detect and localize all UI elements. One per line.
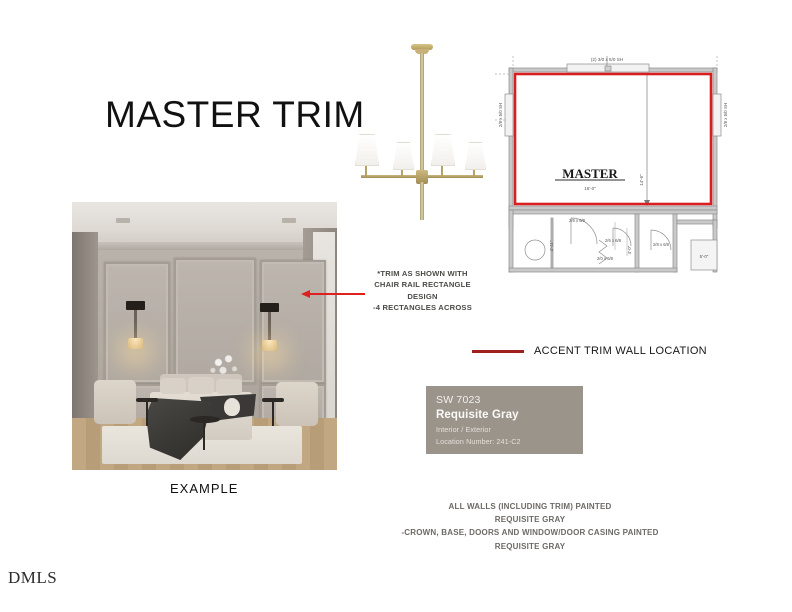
chandelier-arm (361, 175, 421, 178)
paint-name: Requisite Gray (436, 407, 583, 424)
photo-wall-sconce (268, 312, 271, 342)
paint-color-chip: SW 7023 Requisite Gray Interior / Exteri… (426, 386, 583, 454)
trim-note-line-3: DESIGN (355, 291, 490, 302)
photo-downlight (282, 218, 296, 223)
caption-line-4: REQUISITE GRAY (330, 540, 730, 553)
paint-location-number: Location Number: 241-C2 (436, 436, 583, 448)
caption-line-1: ALL WALLS (INCLUDING TRIM) PAINTED (330, 500, 730, 513)
photo-armchair (276, 382, 318, 426)
caption-line-2: REQUISITE GRAY (330, 513, 730, 526)
photo-wall-sconce (134, 310, 137, 340)
floor-plan-closet-dim: 4'-0" (627, 245, 632, 254)
chandelier-product-image (345, 42, 485, 222)
trim-note-line-4: -4 RECTANGLES ACROSS (355, 302, 490, 313)
photo-round-table (190, 416, 220, 423)
photo-armchair (94, 380, 136, 424)
photo-vase (224, 398, 240, 416)
trim-note-line-2: CHAIR RAIL RECTANGLE (355, 279, 490, 290)
design-board-slide: MASTER TRIM EXAMPLE (0, 0, 792, 612)
master-bedroom-example-photo (72, 202, 337, 470)
chandelier-shade (431, 134, 455, 166)
photo-pillow (188, 377, 214, 394)
floor-plan-door-callout: 2/6 x 6/8 (569, 218, 586, 223)
floor-plan-left-window-callout: 2/8 x 5/0 SH (498, 103, 503, 127)
paint-spec-caption: ALL WALLS (INCLUDING TRIM) PAINTED REQUI… (330, 500, 730, 553)
legend-line-swatch (472, 350, 524, 353)
photo-downlight (116, 218, 130, 223)
legend-label: ACCENT TRIM WALL LOCATION (534, 345, 707, 357)
chandelier-stem (420, 53, 424, 177)
photo-caption: EXAMPLE (170, 481, 238, 496)
paint-use: Interior / Exterior (436, 424, 583, 436)
chandelier-shade (355, 134, 379, 166)
chandelier-shade (393, 142, 414, 170)
floor-plan-svg: MASTER 16'-0" 14'-6" (2) 3/0 x 5/0 SH 2/… (495, 50, 745, 315)
page-title: MASTER TRIM (105, 95, 365, 136)
floor-plan-room-depth: 14'-6" (639, 174, 644, 186)
floor-plan-door-callout: 2/8 x 6/8 (653, 242, 670, 247)
master-bedroom-floor-plan: MASTER 16'-0" 14'-6" (2) 3/0 x 5/0 SH 2/… (495, 50, 745, 315)
floor-plan-door-callout: 2/0 x 6/8 (597, 256, 614, 261)
trim-note: *TRIM AS SHOWN WITH CHAIR RAIL RECTANGLE… (355, 268, 490, 314)
floor-plan-closet-dim: 5'-0" (700, 254, 709, 259)
accent-trim-legend: ACCENT TRIM WALL LOCATION (472, 345, 707, 357)
photo-side-table (262, 398, 284, 402)
floor-plan-room-width: 16'-0" (584, 186, 596, 191)
floor-plan-right-window-callout: 2/8 x 5/0 SH (723, 103, 728, 127)
caption-line-3: -CROWN, BASE, DOORS AND WINDOW/DOOR CASI… (330, 526, 730, 539)
floor-plan-top-window-callout: (2) 3/0 x 5/0 SH (591, 57, 623, 62)
floor-plan-room-label: MASTER (562, 166, 618, 181)
photo-trim-rectangle (104, 262, 170, 384)
photo-pillow (160, 378, 186, 394)
paint-code: SW 7023 (436, 394, 583, 407)
floor-plan-closet-dim: 4'-11" (549, 240, 554, 251)
chandelier-shade (465, 142, 486, 170)
chandelier-lower-stem (420, 182, 424, 220)
trim-note-line-1: *TRIM AS SHOWN WITH (355, 268, 490, 279)
watermark: DMLS (8, 568, 57, 588)
photo-pillow (216, 379, 242, 394)
photo-side-table (136, 398, 158, 402)
floor-plan-door-callout: 2/6 x 6/8 (605, 238, 622, 243)
